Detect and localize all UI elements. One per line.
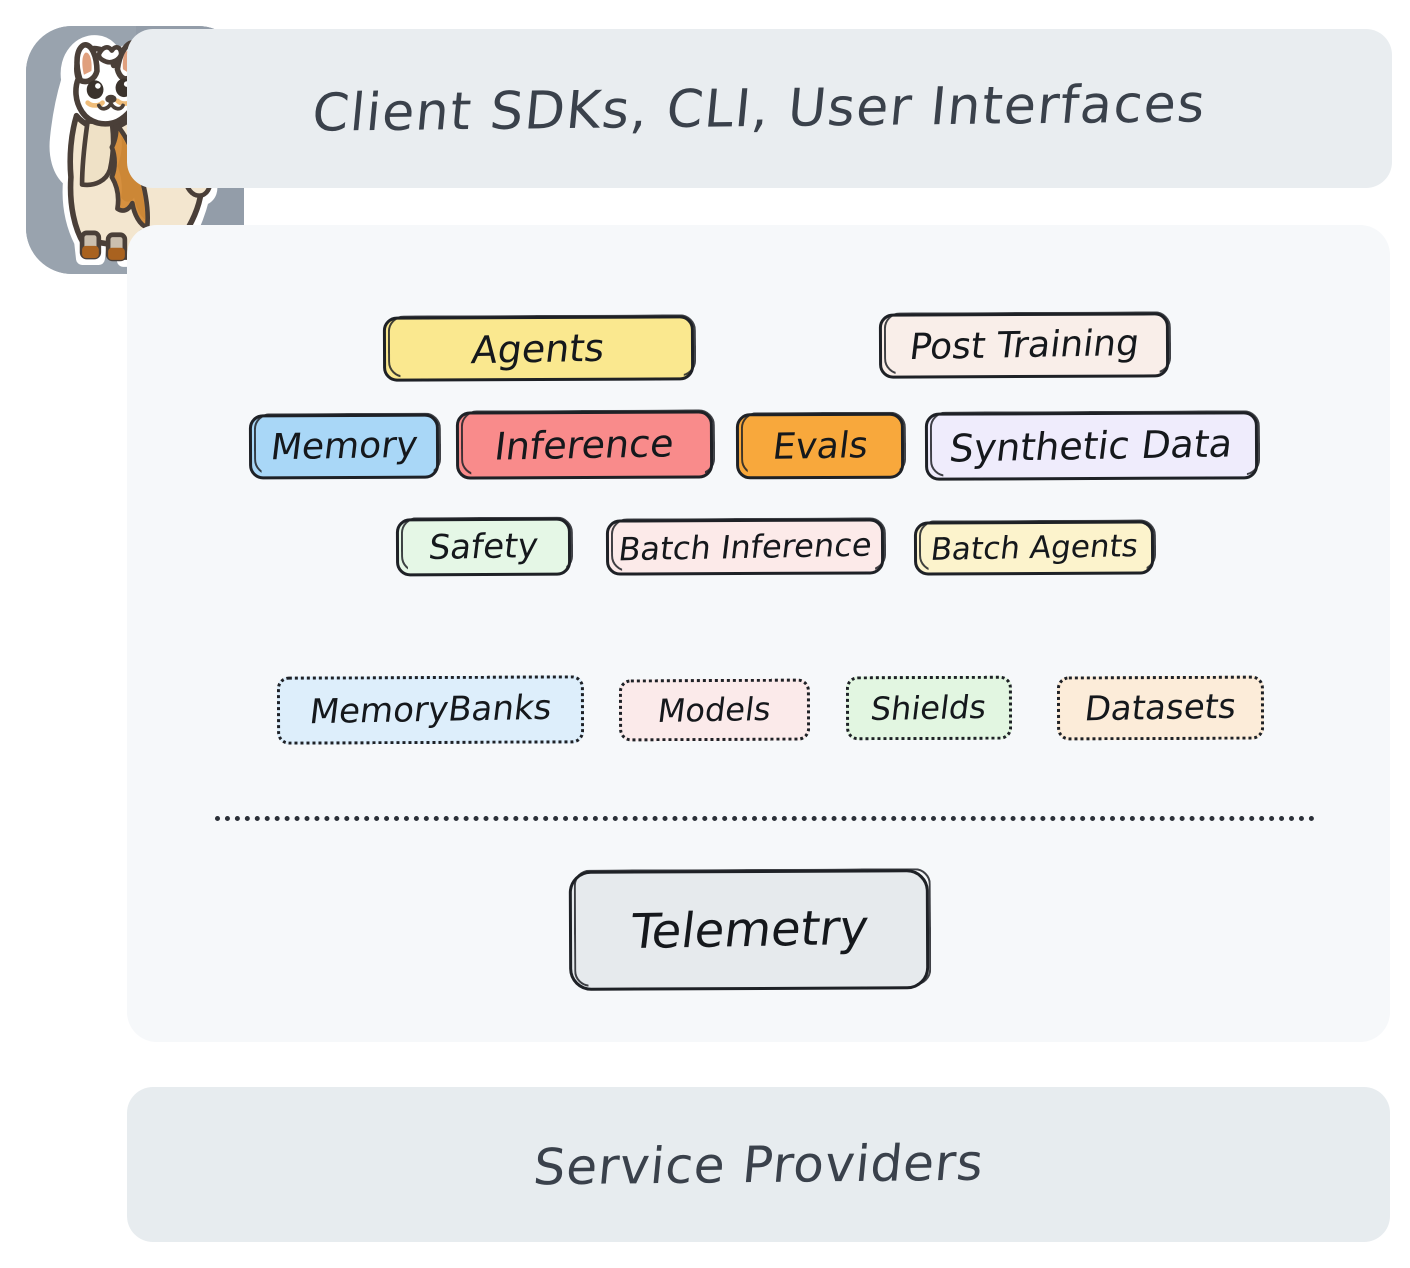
node-label: Shields	[869, 688, 989, 728]
api-node-evals[interactable]: Evals	[736, 413, 904, 480]
client-interfaces-panel: Client SDKs, CLI, User Interfaces	[127, 29, 1392, 188]
api-node-safety[interactable]: Safety	[396, 518, 571, 577]
resource-node-memorybanks[interactable]: MemoryBanks	[277, 675, 584, 744]
node-label: Post Training	[907, 323, 1141, 368]
footer-title: Service Providers	[531, 1133, 987, 1196]
node-label: Batch Inference	[616, 526, 874, 569]
api-node-synthetic-data[interactable]: Synthetic Data	[925, 411, 1258, 480]
api-node-batch-agents[interactable]: Batch Agents	[914, 520, 1154, 575]
api-resource-divider	[215, 816, 1315, 821]
node-label: Agents	[470, 325, 608, 371]
node-label: Models	[656, 690, 774, 730]
node-label: Datasets	[1082, 687, 1238, 730]
api-node-post-training[interactable]: Post Training	[879, 312, 1169, 378]
api-node-memory[interactable]: Memory	[249, 414, 439, 480]
node-label: Memory	[268, 425, 420, 469]
service-providers-panel: Service Providers	[127, 1087, 1390, 1242]
api-node-batch-inference[interactable]: Batch Inference	[606, 518, 884, 575]
telemetry-node-telemetry[interactable]: Telemetry	[569, 869, 930, 991]
resource-node-models[interactable]: Models	[619, 679, 810, 742]
resource-node-datasets[interactable]: Datasets	[1057, 676, 1264, 741]
node-label: MemoryBanks	[307, 688, 554, 732]
api-node-inference[interactable]: Inference	[456, 410, 713, 479]
resource-node-shields[interactable]: Shields	[846, 676, 1012, 741]
page-title: Client SDKs, CLI, User Interfaces	[310, 74, 1209, 143]
node-label: Inference	[492, 421, 676, 468]
node-label: Batch Agents	[928, 528, 1140, 568]
node-label: Synthetic Data	[947, 421, 1235, 470]
api-node-agents[interactable]: Agents	[383, 315, 694, 381]
node-label: Safety	[427, 526, 541, 568]
node-label: Telemetry	[627, 900, 871, 960]
node-label: Evals	[770, 425, 870, 468]
